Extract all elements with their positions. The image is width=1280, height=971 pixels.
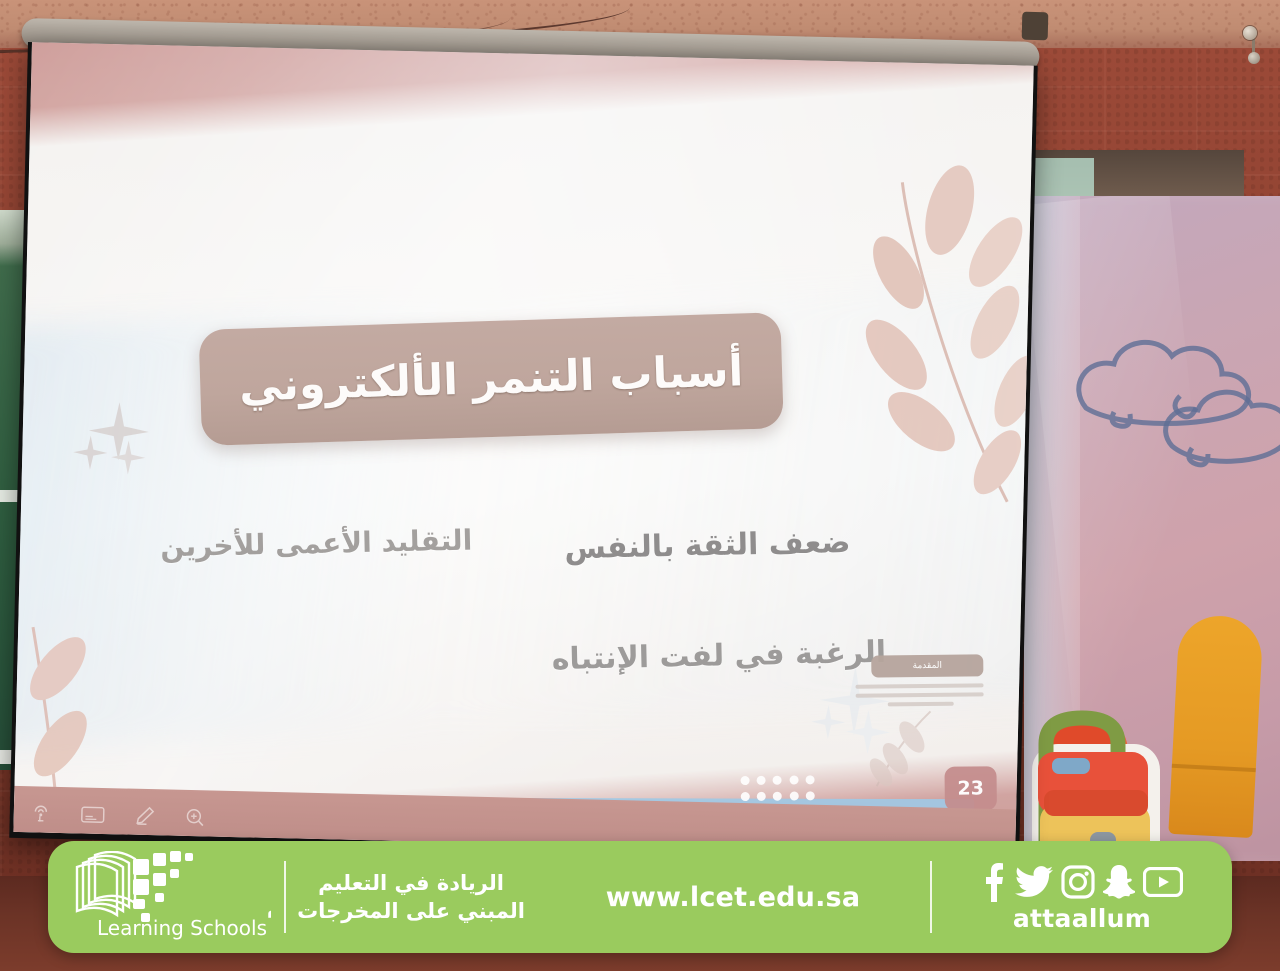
dot [741, 776, 750, 785]
photo-scene: أسباب التنمر الألكتروني ضعف الثقة بالنفس… [0, 0, 1280, 971]
presenter-toolbar [30, 802, 206, 828]
learning-schools-logo-icon: مدارس التعلم Learning Schools [71, 851, 271, 943]
dot [757, 792, 766, 801]
wall-screw-icon [1248, 52, 1260, 64]
slide-bullet-2: التقليد الأعمى للأخرين [160, 524, 473, 564]
projector-screen: أسباب التنمر الألكتروني ضعف الثقة بالنفس… [9, 42, 1037, 862]
facebook-icon[interactable] [981, 862, 1007, 902]
dot [773, 776, 782, 785]
dot [789, 791, 798, 800]
preview-card-heading: المقدمة [871, 654, 983, 677]
dot [805, 775, 814, 784]
school-logo: مدارس التعلم Learning Schools [48, 851, 284, 943]
notes-icon[interactable] [80, 804, 106, 825]
school-slogan: الريادة في التعليم المبني على المخرجات [286, 869, 536, 926]
preview-line [888, 702, 954, 707]
dot [789, 775, 798, 784]
leaf-branch-icon [839, 154, 1033, 512]
slide-bullet-1: ضعف الثقة بالنفس [564, 525, 851, 566]
preview-dot-grid [741, 775, 815, 801]
social-handle[interactable]: attaallum [1013, 904, 1151, 933]
wall-poster-banner [1024, 196, 1280, 861]
wall-hook-icon [1243, 26, 1257, 40]
backpack-graphic [1024, 682, 1198, 861]
social-section: attaallum [932, 862, 1232, 933]
logo-arabic-name: مدارس التعلم [267, 896, 271, 918]
snapchat-icon[interactable] [1103, 864, 1135, 900]
page-number-badge: 23 [944, 766, 996, 811]
logo-english-name: Learning Schools [97, 916, 267, 940]
twitter-icon[interactable] [1015, 865, 1053, 899]
dot [773, 792, 782, 801]
dot [806, 791, 815, 800]
slide-title-pill: أسباب التنمر الألكتروني [199, 312, 784, 446]
preview-card-heading-text: المقدمة [913, 661, 942, 671]
cloud-doodle-icon-2 [1154, 376, 1280, 486]
preview-line [856, 683, 984, 688]
school-footer-banner: مدارس التعلم Learning Schools الريادة في… [48, 841, 1232, 953]
dot [741, 792, 750, 801]
sparkle-icon [66, 395, 160, 477]
zoom-icon[interactable] [184, 806, 207, 829]
slogan-line-1: الريادة في التعليم [286, 869, 536, 897]
preview-line [856, 692, 984, 697]
preview-card-body-lines [856, 683, 988, 706]
school-website[interactable]: www.lcet.edu.sa [536, 882, 930, 913]
page-title: أسباب التنمر الألكتروني [238, 346, 744, 411]
dot [757, 776, 766, 785]
roller-end-cap [1022, 12, 1049, 41]
slide-preview-card: المقدمة 23 [835, 654, 997, 806]
slogan-line-2: المبني على المخرجات [286, 897, 536, 925]
instagram-icon[interactable] [1061, 865, 1095, 899]
social-icon-row [981, 862, 1183, 902]
pen-icon[interactable] [134, 805, 157, 828]
youtube-icon[interactable] [1143, 867, 1183, 897]
subtitles-icon[interactable] [30, 803, 52, 824]
screen-surface: أسباب التنمر الألكتروني ضعف الثقة بالنفس… [13, 42, 1033, 855]
